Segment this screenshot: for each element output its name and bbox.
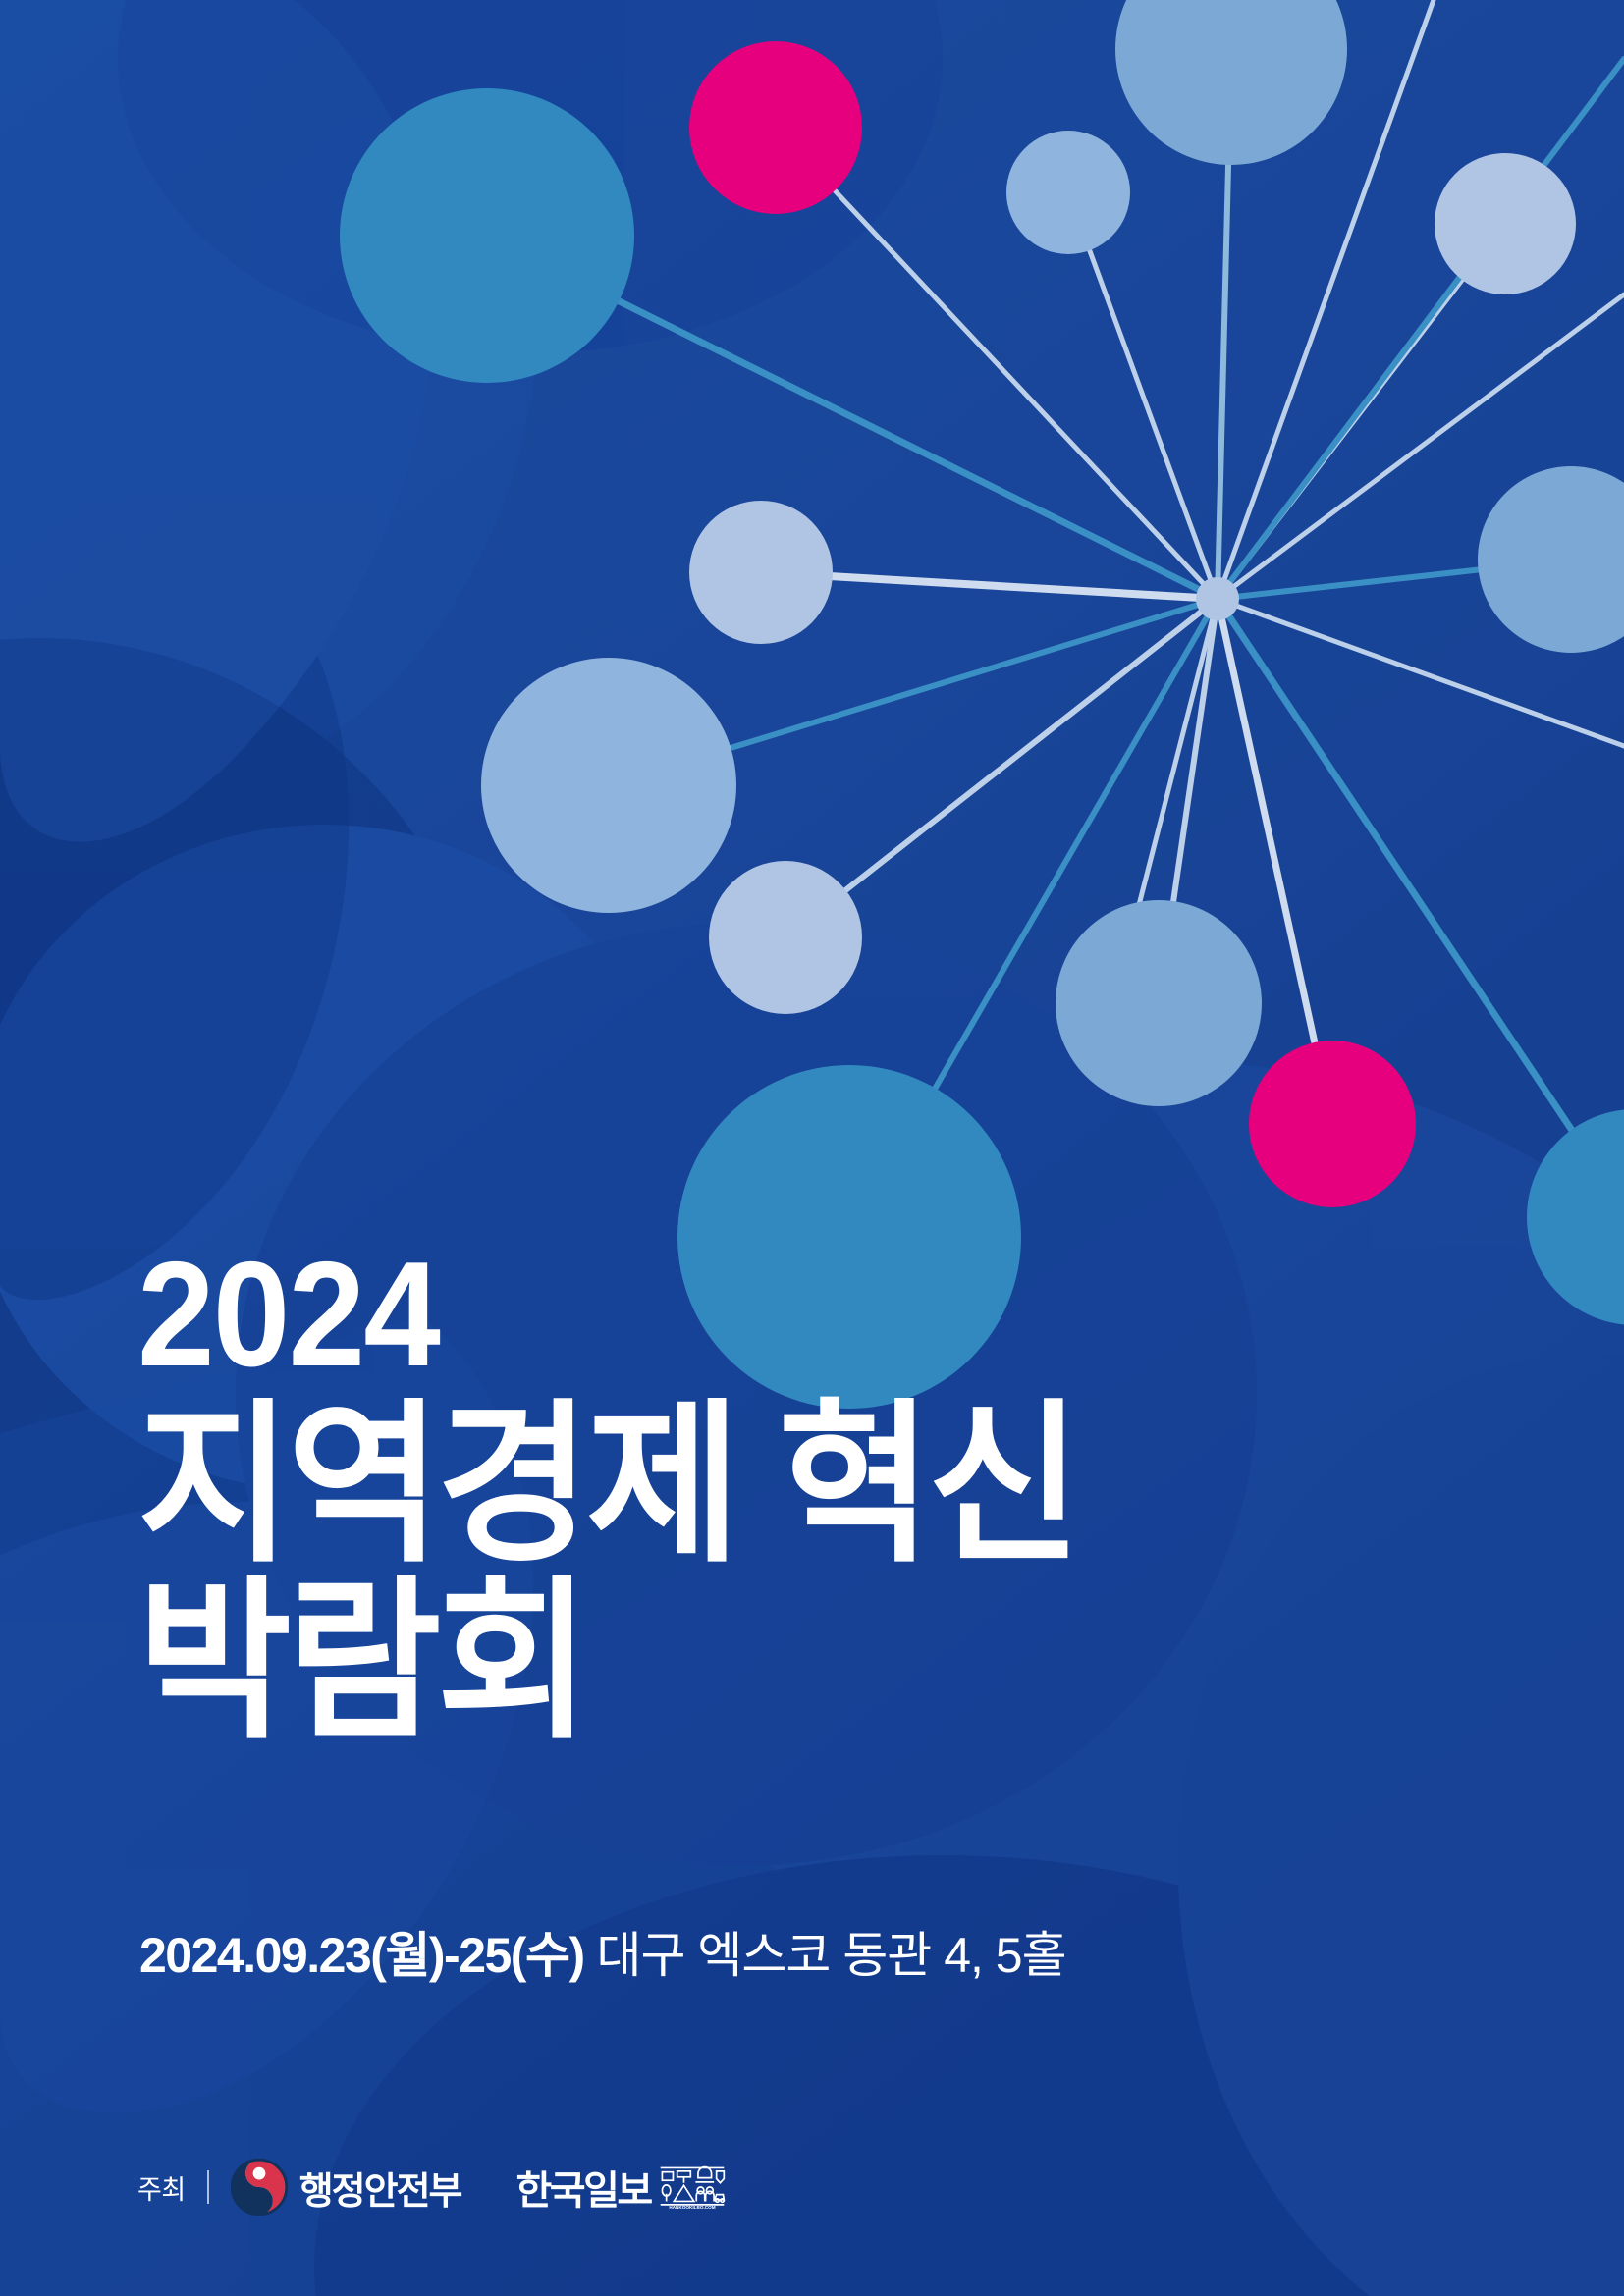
poster-root: 2024 지역경제 혁신 박람회 2024.09.23(월)-25(수) 대구 … (0, 0, 1624, 2296)
event-date-venue: 2024.09.23(월)-25(수) 대구 엑스코 동관 4, 5홀 (139, 1916, 1066, 1987)
press-logo: 한국일보 (516, 2159, 726, 2216)
event-date: 2024.09.23(월)-25(수) (139, 1928, 584, 1983)
poster-footer: 주최 행정안전부 한국일보 (137, 2156, 726, 2218)
poster-title-block: 2024 지역경제 혁신 박람회 (137, 1247, 1512, 1749)
footer-divider (207, 2170, 209, 2204)
poster-title-line1: 지역경제 혁신 (137, 1398, 1457, 1573)
press-mark-text: HANKOOKILBO.COM (669, 2205, 715, 2210)
poster-title-line2: 박람회 (137, 1575, 1457, 1749)
event-venue: 대구 엑스코 동관 4, 5홀 (584, 1928, 1066, 1983)
poster-year: 2024 (137, 1247, 1416, 1384)
press-name: 한국일보 (516, 2159, 651, 2216)
host-label: 주최 (137, 2168, 186, 2207)
hankookilbo-pictogram-icon: HANKOOKILBO.COM (659, 2164, 726, 2210)
korea-government-taegeuk-icon (231, 2159, 288, 2216)
gov-ministry-name: 행정안전부 (299, 2161, 461, 2215)
